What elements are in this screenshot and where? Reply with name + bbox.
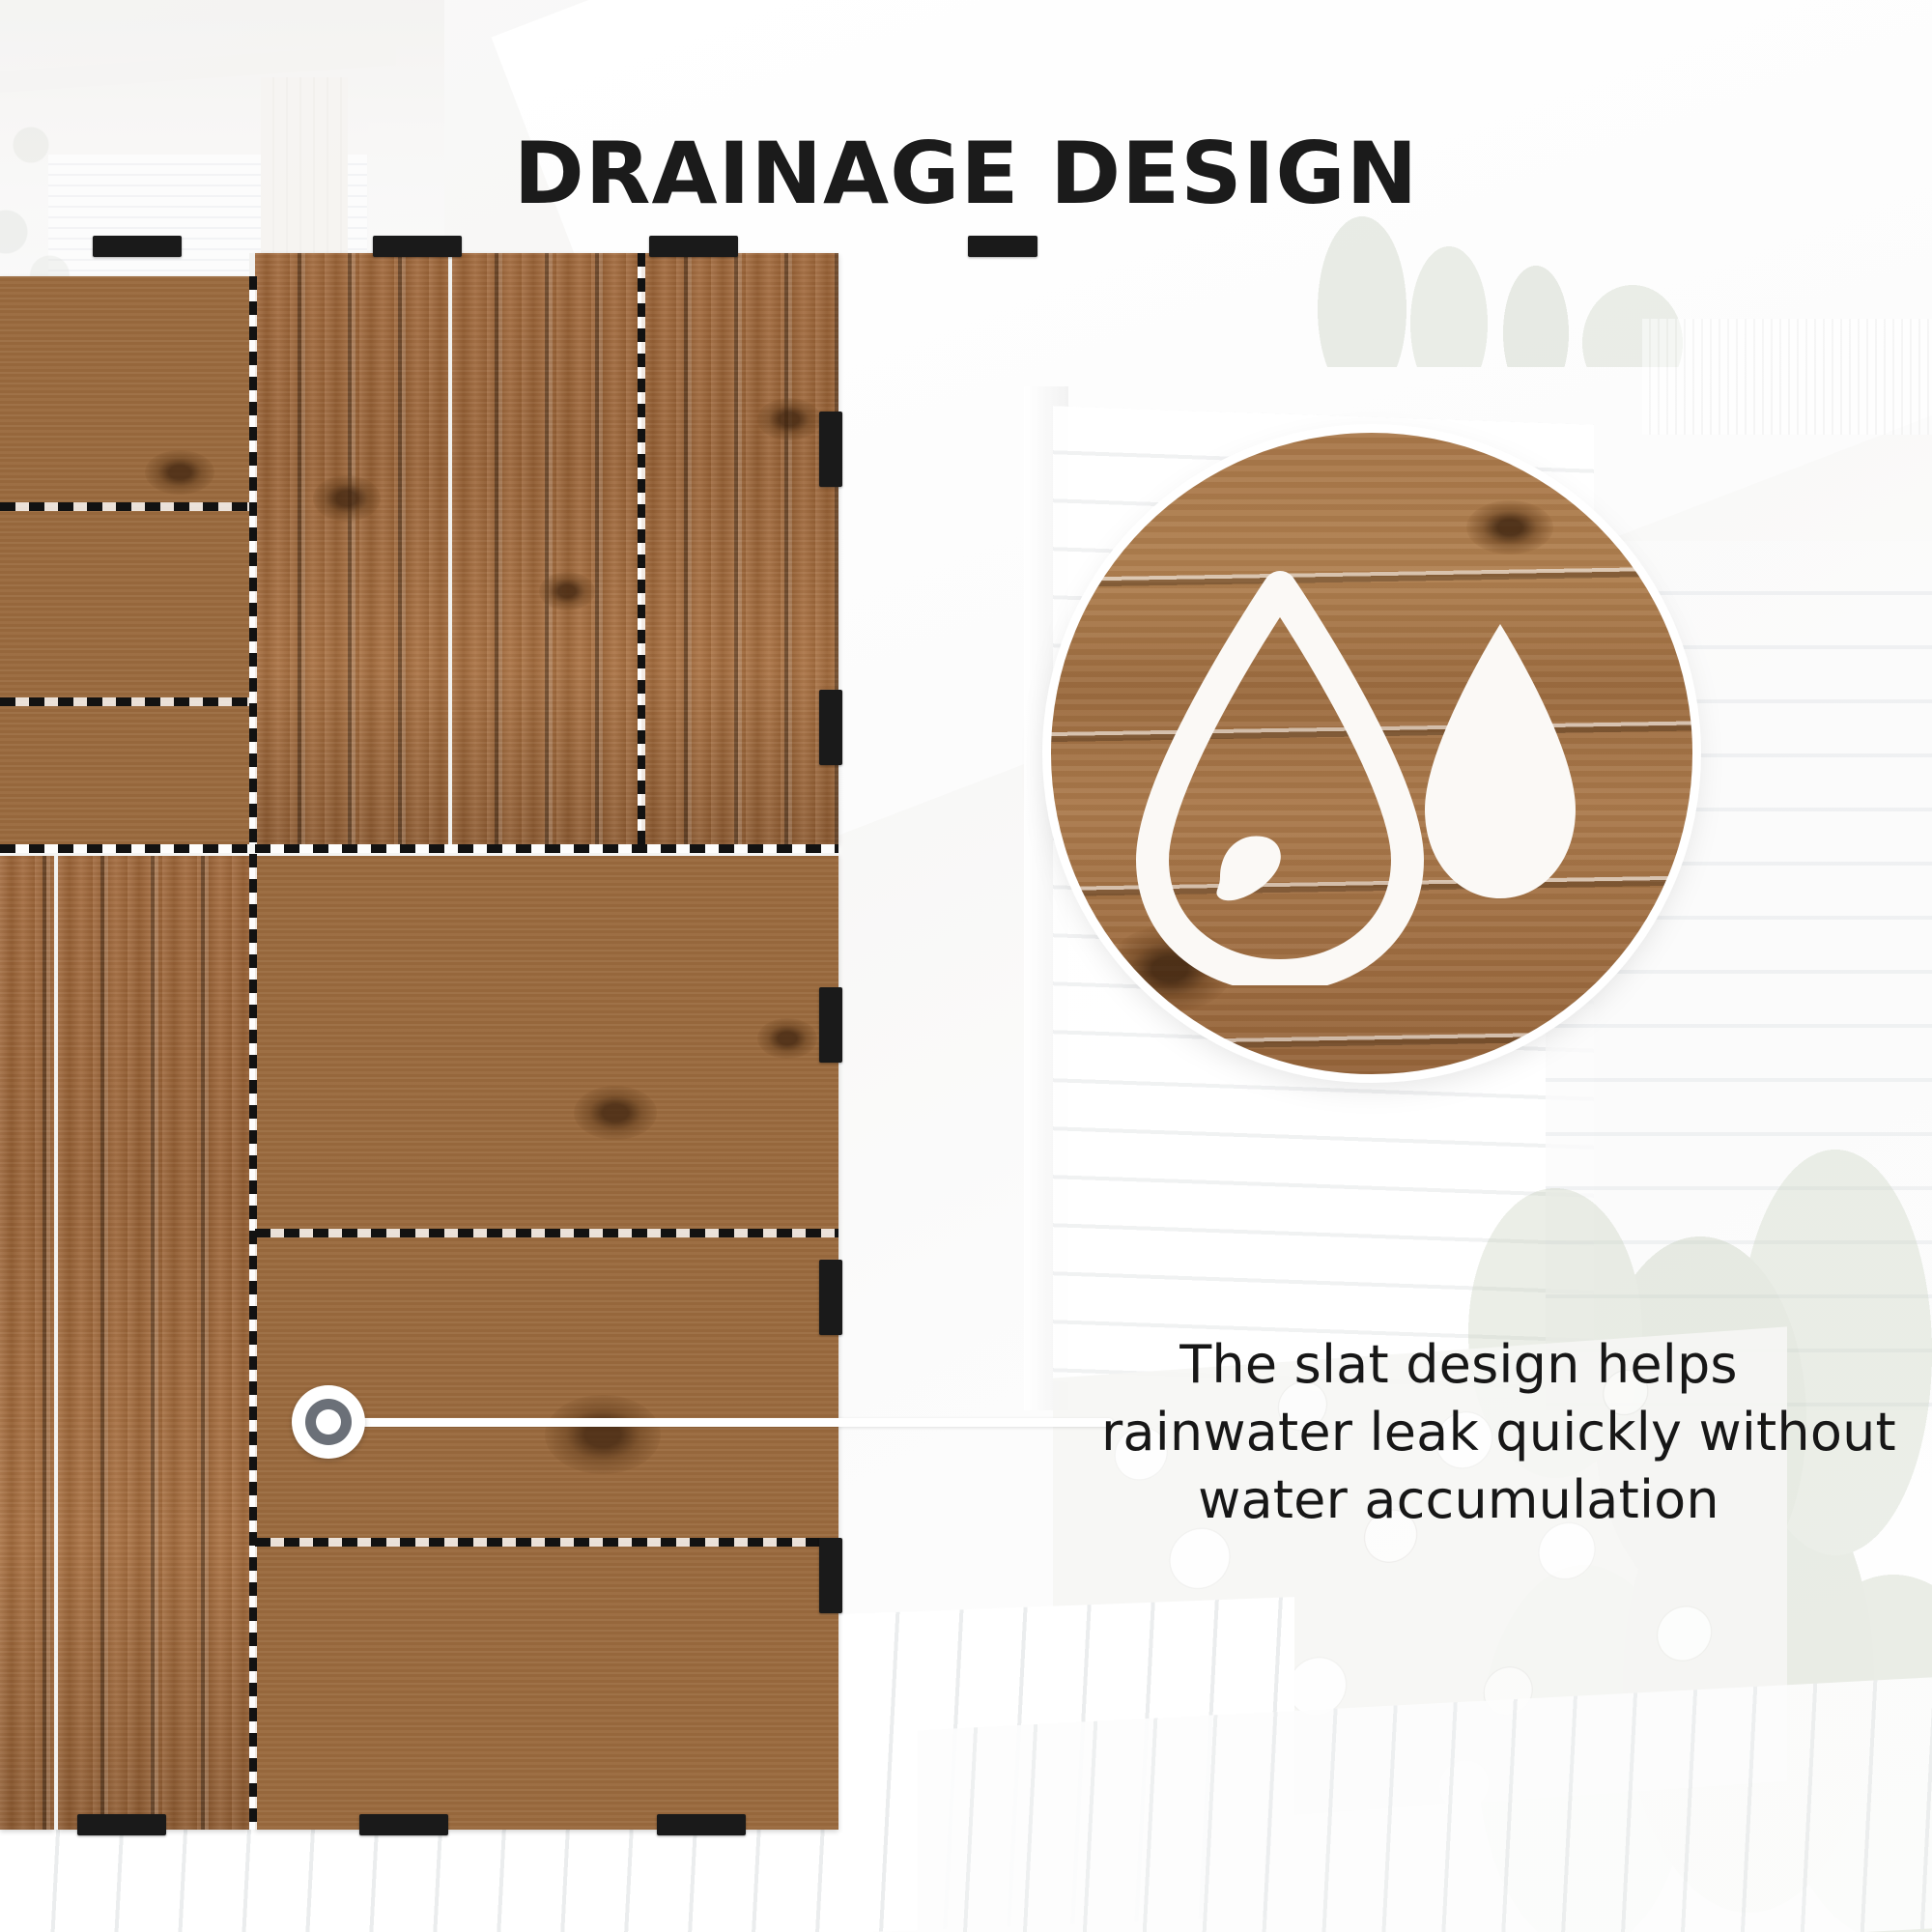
caption-line-2: rainwater leak quickly without bbox=[1101, 1399, 1816, 1466]
deck-tile bbox=[0, 854, 54, 1830]
interlock-teeth bbox=[0, 697, 249, 706]
caption-line-3: water accumulation bbox=[1101, 1466, 1816, 1534]
wood-knot bbox=[757, 398, 821, 440]
wood-grain bbox=[0, 854, 54, 1830]
tile-base-clip bbox=[649, 236, 738, 257]
interlock-teeth bbox=[638, 253, 645, 844]
deck-tile bbox=[641, 253, 838, 844]
tile-base-clip bbox=[373, 236, 462, 257]
wood-grain bbox=[641, 253, 838, 844]
tile-seam bbox=[54, 854, 58, 1830]
callout-caption: The slat design helps rainwater leak qui… bbox=[1101, 1331, 1816, 1535]
tile-base-clip bbox=[819, 1538, 842, 1613]
deck-tile bbox=[452, 253, 638, 844]
wood-grain bbox=[255, 253, 448, 844]
tile-seam bbox=[448, 253, 452, 844]
deck-tile bbox=[255, 854, 838, 1830]
wood-knot bbox=[539, 572, 595, 611]
interlock-teeth bbox=[249, 276, 257, 844]
wood-grain bbox=[255, 854, 838, 1830]
tile-base-clip bbox=[819, 1260, 842, 1335]
tile-base-clip bbox=[359, 1814, 448, 1835]
tile-base-clip bbox=[819, 412, 842, 487]
page-title: DRAINAGE DESIGN bbox=[0, 124, 1932, 223]
deck-tile bbox=[0, 276, 249, 867]
tile-base-clip bbox=[968, 236, 1037, 257]
deck-tile-grid bbox=[0, 253, 1058, 1837]
interlock-teeth bbox=[255, 1229, 838, 1237]
interlock-teeth bbox=[255, 1538, 838, 1547]
wood-grain bbox=[0, 276, 249, 867]
wood-knot bbox=[545, 1395, 661, 1474]
tile-base-clip bbox=[819, 690, 842, 765]
tile-base-clip bbox=[77, 1814, 166, 1835]
interlock-teeth bbox=[0, 502, 249, 511]
wood-knot bbox=[145, 450, 214, 495]
wood-grain bbox=[452, 253, 638, 844]
callout-marker-dot bbox=[292, 1385, 365, 1459]
interlock-teeth bbox=[255, 844, 838, 853]
marker-core bbox=[316, 1409, 341, 1435]
interlock-teeth bbox=[0, 844, 249, 853]
wood-knot bbox=[757, 1018, 817, 1059]
interlock-teeth bbox=[249, 854, 257, 1830]
water-drop-icon bbox=[1135, 570, 1608, 985]
wood-grain bbox=[58, 854, 249, 1830]
background-railing bbox=[1642, 319, 1932, 435]
product-feature-image: DRAINAGE DESIGN The slat design helps ra… bbox=[0, 0, 1932, 1932]
wood-knot bbox=[1466, 500, 1553, 554]
deck-tile bbox=[255, 253, 448, 844]
tile-base-clip bbox=[657, 1814, 746, 1835]
wood-knot bbox=[574, 1086, 657, 1140]
deck-tile bbox=[58, 854, 249, 1830]
tile-base-clip bbox=[819, 987, 842, 1063]
caption-line-1: The slat design helps bbox=[1101, 1331, 1816, 1399]
tile-base-clip bbox=[93, 236, 182, 257]
wood-knot bbox=[313, 475, 381, 522]
callout-leader-line bbox=[340, 1418, 1113, 1427]
